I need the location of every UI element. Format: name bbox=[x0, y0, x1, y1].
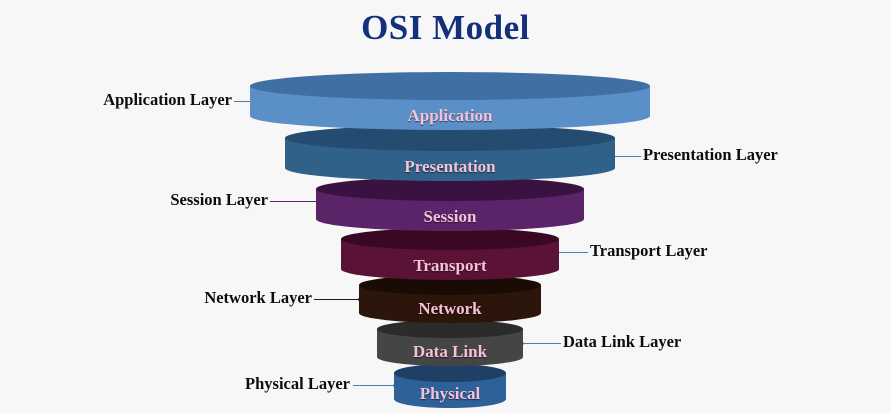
callout-data-link-layer: Data Link Layer bbox=[563, 332, 803, 352]
leader-line-data-link bbox=[522, 343, 561, 344]
layer-physical[interactable]: Physical bbox=[394, 364, 506, 408]
leader-line-transport bbox=[556, 252, 588, 253]
callout-transport-layer: Transport Layer bbox=[590, 241, 820, 261]
callout-session-layer: Session Layer bbox=[20, 190, 268, 210]
cylinder-network bbox=[359, 275, 541, 323]
cylinder-transport bbox=[341, 228, 559, 280]
layer-network[interactable]: Network bbox=[359, 275, 541, 323]
callout-network-layer: Network Layer bbox=[60, 288, 312, 308]
osi-model-diagram: OSI Model Application Presentation bbox=[0, 0, 891, 413]
layer-session[interactable]: Session bbox=[316, 177, 584, 231]
leader-line-session bbox=[270, 201, 318, 202]
cylinder-presentation bbox=[285, 125, 615, 181]
layer-data-link[interactable]: Data Link bbox=[377, 320, 523, 366]
callout-presentation-layer: Presentation Layer bbox=[643, 145, 891, 165]
cylinder-session bbox=[316, 177, 584, 231]
layer-transport[interactable]: Transport bbox=[341, 228, 559, 280]
layer-presentation[interactable]: Presentation bbox=[285, 125, 615, 181]
leader-line-presentation bbox=[611, 156, 641, 157]
cylinder-physical bbox=[394, 364, 506, 408]
page-title: OSI Model bbox=[0, 6, 891, 50]
cylinder-data-link bbox=[377, 320, 523, 366]
leader-line-network bbox=[314, 299, 360, 300]
cylinder-application bbox=[250, 72, 650, 130]
layer-application[interactable]: Application bbox=[250, 72, 650, 130]
callout-application-layer: Application Layer bbox=[0, 90, 232, 110]
leader-line-physical bbox=[353, 385, 395, 386]
callout-physical-layer: Physical Layer bbox=[110, 374, 350, 394]
